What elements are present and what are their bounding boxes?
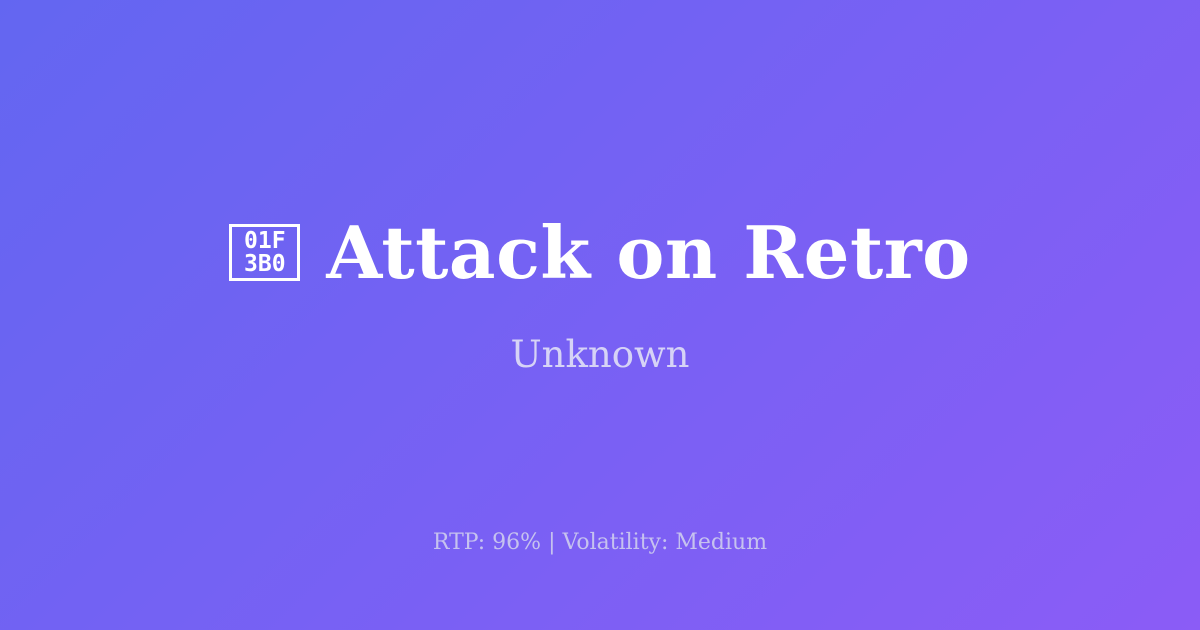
codepoint-line-2: 3B0 bbox=[244, 253, 286, 276]
provider-label: Unknown bbox=[510, 333, 689, 377]
title-row: 01F 3B0 Attack on Retro bbox=[229, 215, 970, 291]
game-meta-line: RTP: 96% | Volatility: Medium bbox=[0, 530, 1200, 556]
slot-machine-icon: 01F 3B0 bbox=[229, 224, 300, 281]
game-preview-card: 01F 3B0 Attack on Retro Unknown RTP: 96%… bbox=[0, 0, 1200, 630]
page-title: Attack on Retro bbox=[326, 215, 970, 291]
codepoint-line-1: 01F bbox=[244, 230, 286, 253]
